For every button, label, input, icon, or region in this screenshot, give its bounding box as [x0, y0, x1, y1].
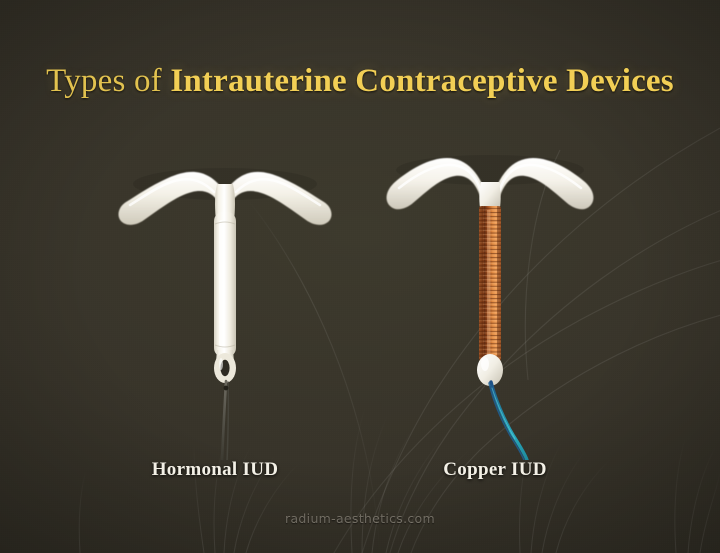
copper-bulb-highlight: [481, 357, 489, 371]
hormonal-string-secondary: [227, 382, 228, 460]
watermark: radium-aesthetics.com: [0, 511, 720, 526]
hormonal-iud-illustration: [110, 140, 360, 460]
page-title: Types of Intrauterine Contraceptive Devi…: [0, 63, 720, 99]
page-title-emphasis: Intrauterine Contraceptive Devices: [170, 63, 674, 99]
copper-iud-illustration: [375, 130, 625, 460]
page-title-prefix: Types of: [46, 63, 170, 99]
copper-coil-right-shade: [497, 206, 501, 361]
hormonal-reservoir-highlight: [219, 220, 224, 348]
copper-coil-specular: [487, 210, 490, 357]
copper-neck-collar: [479, 182, 500, 208]
illustration-canvas: Types of Intrauterine Contraceptive Devi…: [0, 0, 720, 553]
hormonal-eyelet-highlight: [219, 358, 223, 370]
copper-string-primary: [491, 382, 527, 460]
copper-coil-left-shade: [479, 206, 483, 361]
hormonal-string-primary: [222, 381, 226, 460]
hormonal-iud-label: Hormonal IUD: [85, 459, 345, 481]
hormonal-string-knot: [224, 386, 229, 391]
hormonal-reservoir-body: [214, 212, 236, 357]
copper-iud-label: Copper IUD: [365, 459, 625, 481]
